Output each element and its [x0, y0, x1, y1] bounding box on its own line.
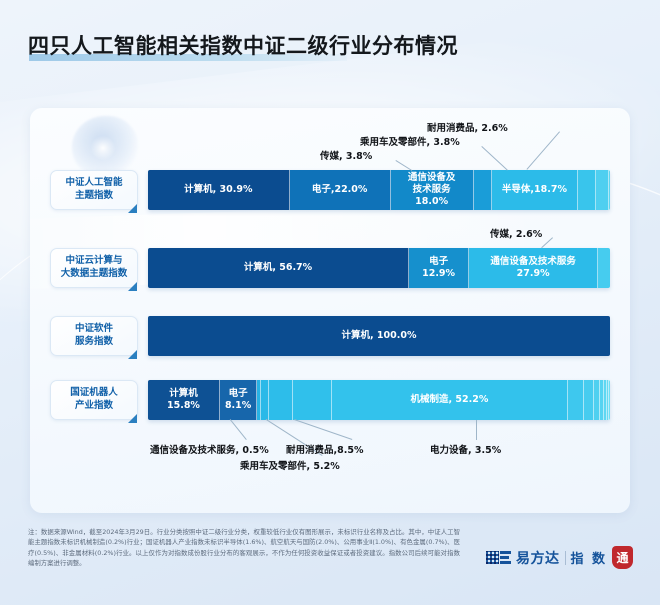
- bar-segment[interactable]: [596, 170, 609, 210]
- callout-leader-line: [476, 420, 477, 440]
- stacked-bar: 计算机, 56.7%电子 12.9%通信设备及技术服务 27.9%: [148, 248, 610, 288]
- callout-label: 电力设备, 3.5%: [430, 442, 501, 456]
- bar-segment[interactable]: [474, 170, 492, 210]
- logo-product-text: 指 数: [571, 548, 608, 567]
- callout-leader-line: [526, 131, 560, 170]
- row-label-3[interactable]: 中证软件 服务指数: [50, 316, 138, 356]
- decorative-blob-highlight: [90, 136, 116, 160]
- stacked-bar: 计算机, 30.9%电子,22.0%通信设备及 技术服务 18.0%半导体,18…: [148, 170, 610, 210]
- logo-e-icon: [500, 551, 511, 564]
- callout-label: 耐用消费品, 2.6%: [427, 120, 508, 134]
- logo-seal-icon: 通: [612, 546, 633, 569]
- callout-label: 耐用消费品,8.5%: [286, 442, 363, 456]
- callout-label: 乘用车及零部件, 3.8%: [360, 134, 460, 148]
- row-label-4[interactable]: 国证机器人 产业指数: [50, 380, 138, 420]
- bar-segment[interactable]: [609, 170, 610, 210]
- bar-segment[interactable]: [598, 248, 610, 288]
- stacked-bar: 计算机 15.8%电子 8.1%机械制造, 52.2%: [148, 380, 610, 420]
- callout-leader-line: [230, 419, 247, 440]
- bar-segment[interactable]: 电子,22.0%: [290, 170, 391, 210]
- bar-segment[interactable]: [609, 380, 610, 420]
- chart-card: 中证人工智能 主题指数计算机, 30.9%电子,22.0%通信设备及 技术服务 …: [30, 108, 630, 513]
- logo-divider: [565, 551, 566, 565]
- bar-segment[interactable]: 计算机, 56.7%: [148, 248, 409, 288]
- bar-segment[interactable]: [293, 380, 332, 420]
- bar-segment[interactable]: 计算机, 100.0%: [148, 316, 610, 356]
- bar-segment[interactable]: 通信设备及技术服务 27.9%: [469, 248, 598, 288]
- bar-segment[interactable]: 计算机, 30.9%: [148, 170, 290, 210]
- row-label-1[interactable]: 中证人工智能 主题指数: [50, 170, 138, 210]
- logo-brand-text: 易方达: [516, 548, 560, 568]
- stacked-bar: 计算机, 100.0%: [148, 316, 610, 356]
- callout-leader-line: [481, 146, 508, 171]
- callout-label: 传媒, 3.8%: [320, 148, 372, 162]
- bar-segment[interactable]: [578, 170, 596, 210]
- bar-segment[interactable]: 半导体,18.7%: [492, 170, 578, 210]
- page-title: 四只人工智能相关指数中证二级行业分布情况: [28, 30, 458, 60]
- bar-segment[interactable]: 电子 8.1%: [220, 380, 257, 420]
- bar-segment[interactable]: [269, 380, 293, 420]
- row-label-2[interactable]: 中证云计算与 大数据主题指数: [50, 248, 138, 288]
- bar-segment[interactable]: [261, 380, 269, 420]
- callout-leader-line: [294, 419, 352, 440]
- callout-label: 通信设备及技术服务, 0.5%: [150, 442, 269, 456]
- bar-segment[interactable]: 电子 12.9%: [409, 248, 469, 288]
- bar-segment[interactable]: [568, 380, 585, 420]
- logo-mark-icon: [486, 551, 511, 564]
- bar-segment[interactable]: [584, 380, 594, 420]
- bar-segment[interactable]: 机械制造, 52.2%: [332, 380, 567, 420]
- logo-dots-icon: [486, 551, 499, 564]
- bar-segment[interactable]: 通信设备及 技术服务 18.0%: [391, 170, 474, 210]
- callout-label: 乘用车及零部件, 5.2%: [240, 458, 340, 472]
- brand-logo: 易方达 指 数 通: [486, 546, 633, 569]
- title-block: 四只人工智能相关指数中证二级行业分布情况: [28, 30, 458, 60]
- footnote: 注：数据来源Wind，截至2024年3月29日。行业分类按照中证二级行业分类，权…: [28, 527, 460, 569]
- callout-label: 传媒, 2.6%: [490, 226, 542, 240]
- bar-segment[interactable]: 计算机 15.8%: [148, 380, 220, 420]
